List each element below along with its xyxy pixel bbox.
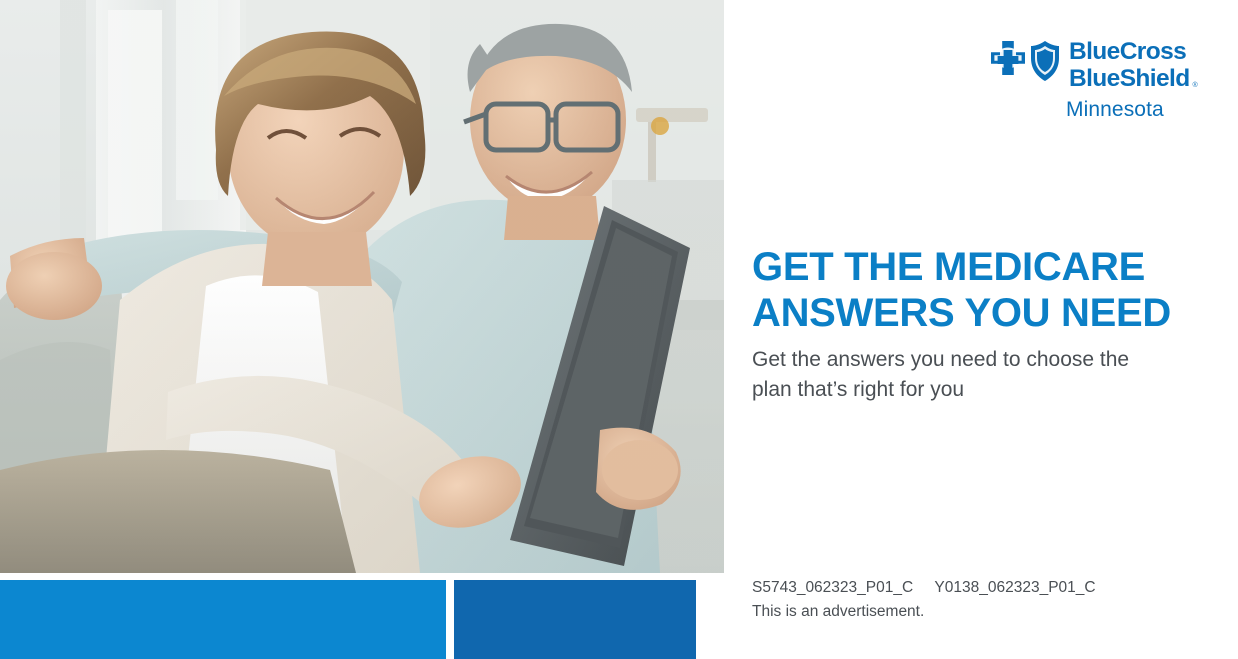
headline-line-1: GET THE MEDICARE [752, 245, 1222, 291]
logo-state-label: Minnesota [1066, 98, 1164, 122]
bcbs-logo: BlueCross BlueShield ® [990, 40, 1190, 91]
logo-marks [990, 40, 1060, 82]
photo-illustration [0, 0, 724, 573]
subheadline-line-1: Get the answers you need to choose the [752, 345, 1202, 375]
subheadline: Get the answers you need to choose the p… [752, 345, 1202, 405]
advertisement-note: This is an advertisement. [752, 600, 1222, 624]
legal-disclaimer: S5743_062323_P01_C Y0138_062323_P01_C Th… [752, 576, 1222, 624]
bar-light-blue [0, 580, 446, 659]
logo-wordmark: BlueCross BlueShield ® [1069, 40, 1190, 91]
logo-line-blueshield: BlueShield [1069, 67, 1190, 92]
couple-with-tablet-photo [0, 0, 724, 573]
ad-page: BlueCross BlueShield ® Minnesota GET THE… [0, 0, 1238, 659]
page-title: GET THE MEDICARE ANSWERS YOU NEED [752, 245, 1222, 336]
bar-gap [446, 580, 454, 659]
legal-codes: S5743_062323_P01_C Y0138_062323_P01_C [752, 576, 1222, 600]
blue-cross-icon [990, 40, 1026, 80]
bar-dark-blue [454, 580, 696, 659]
headline-line-2: ANSWERS YOU NEED [752, 291, 1222, 337]
logo-line-bluecross: BlueCross [1069, 40, 1190, 65]
registered-mark: ® [1192, 82, 1197, 89]
subheadline-line-2: plan that’s right for you [752, 375, 1202, 405]
right-content-panel: BlueCross BlueShield ® Minnesota GET THE… [724, 0, 1238, 659]
blue-shield-icon [1030, 40, 1060, 82]
bottom-color-bars [0, 580, 696, 659]
